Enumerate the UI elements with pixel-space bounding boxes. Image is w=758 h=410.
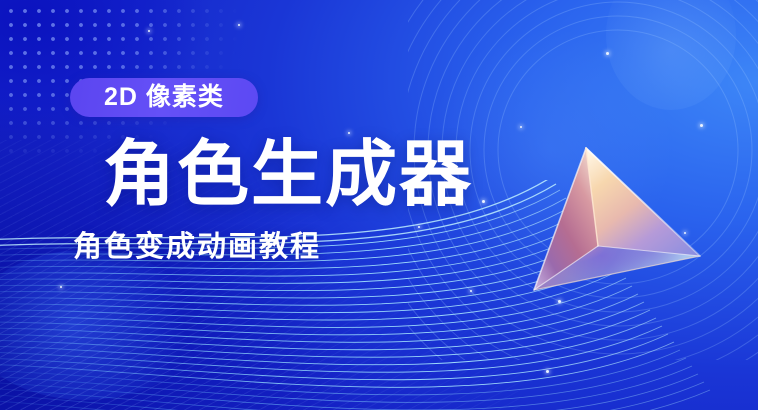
category-badge: 2D 像素类: [70, 78, 258, 117]
page-title: 角色生成器: [103, 139, 500, 211]
page-subtitle: 角色变成动画教程: [73, 233, 500, 262]
tetrahedron-3d-icon: [498, 128, 734, 313]
star-dot: [470, 290, 472, 292]
banner-content: 2D 像素类 角色生成器 角色变成动画教程: [70, 78, 500, 262]
star-dot: [700, 124, 703, 127]
star-dot: [238, 24, 240, 26]
star-dot: [546, 370, 549, 373]
star-dot: [60, 286, 62, 288]
promo-banner: 2D 像素类 角色生成器 角色变成动画教程: [0, 0, 758, 410]
star-dot: [148, 30, 150, 32]
star-dot: [606, 52, 609, 55]
